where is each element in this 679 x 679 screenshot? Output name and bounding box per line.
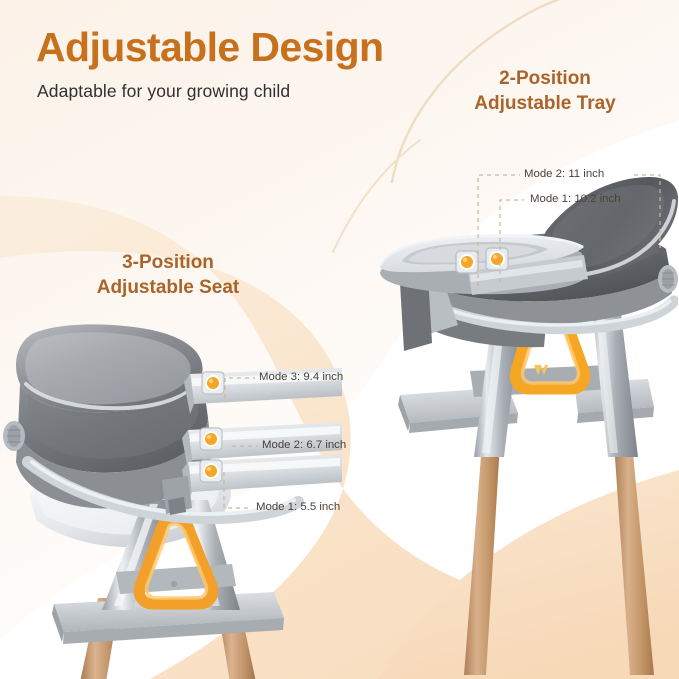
heading-tray-line1: 2-Position [499, 68, 591, 89]
mode-2-latch [200, 428, 222, 450]
wooden-legs [464, 443, 654, 675]
heading-seat-line2: Adjustable Seat [97, 277, 240, 298]
height-adjust-knob [658, 265, 678, 293]
product-illustration-high-chair-tray [378, 175, 678, 675]
feeding-tray [380, 234, 588, 295]
tray-latch-button-2 [486, 248, 508, 270]
heading-seat-line1: 3-Position [122, 252, 214, 273]
height-adjust-knob [3, 421, 25, 451]
seat-mode-bars [182, 368, 342, 502]
callout-tray-mode-2: Mode 2: 11 inch [524, 168, 604, 180]
seat-bracket-inner [168, 497, 186, 515]
callout-seat-mode-2: Mode 2: 6.7 inch [262, 439, 346, 451]
section-heading-adjustable-tray: 2-Position Adjustable Tray [420, 66, 670, 117]
tray-latch-button-1 [456, 251, 478, 273]
callout-tray-mode-1: Mode 1: 10.2 inch [530, 193, 621, 205]
callout-seat-mode-1: Mode 1: 5.5 inch [256, 501, 340, 513]
page-subtitle: Adaptable for your growing child [37, 81, 290, 102]
mode-3-latch [202, 372, 224, 394]
heading-tray-line2: Adjustable Tray [474, 93, 616, 114]
callout-seat-mode-3: Mode 3: 9.4 inch [259, 371, 343, 383]
backrest-cushion [16, 324, 203, 412]
section-heading-adjustable-seat: 3-Position Adjustable Seat [53, 250, 283, 301]
infographic-canvas: Adjustable Design Adaptable for your gro… [0, 0, 679, 679]
page-title: Adjustable Design [36, 24, 383, 71]
mode-1-latch [200, 460, 222, 482]
